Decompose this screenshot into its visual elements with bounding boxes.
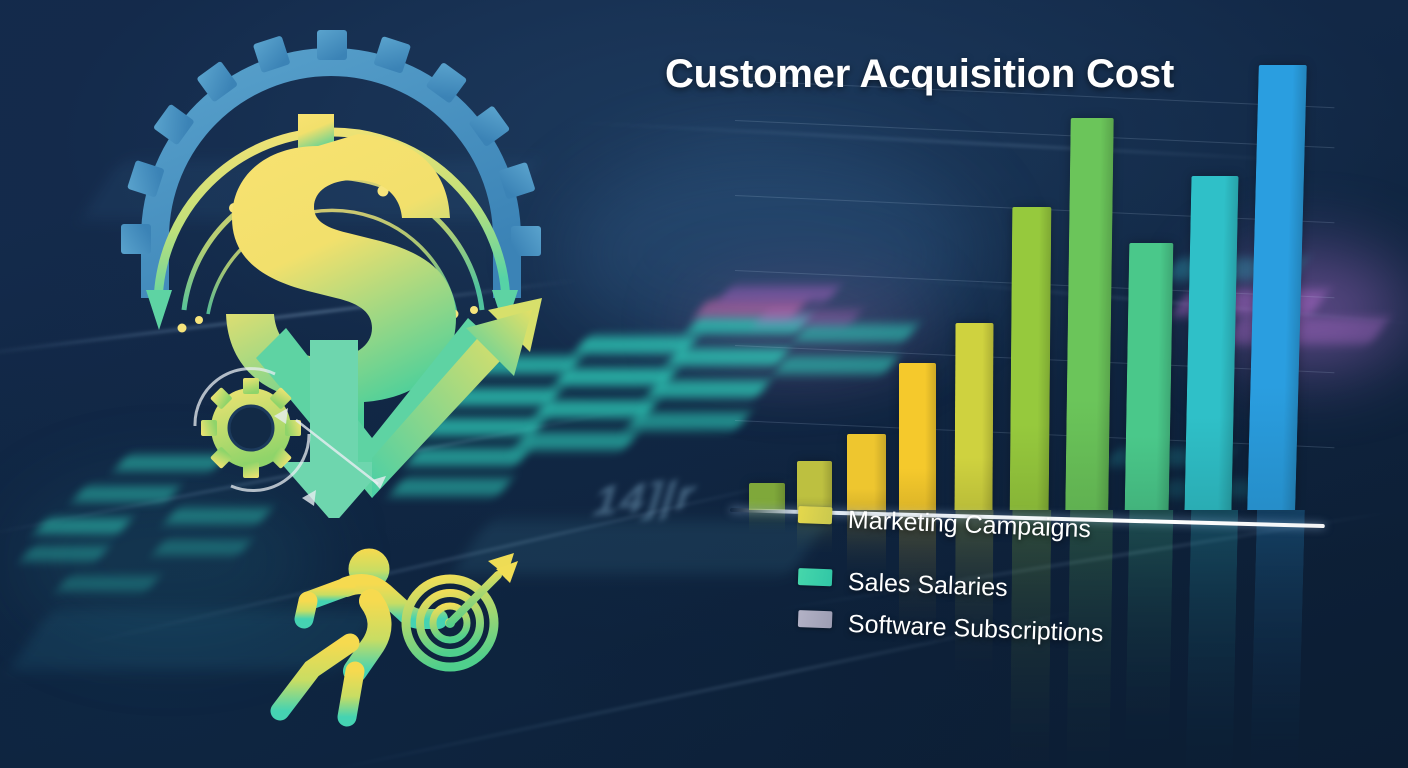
- background-bar: [21, 546, 109, 561]
- bar-8[interactable]: [1125, 243, 1174, 510]
- background-bar: [626, 412, 750, 430]
- legend-label-sales-salaries: Sales Salaries: [847, 570, 1008, 601]
- running-person-icon: [280, 549, 438, 717]
- dollar-gear-growth-icon: [96, 28, 566, 518]
- target-arrow-icon: [450, 553, 518, 623]
- bar-7[interactable]: [1065, 118, 1113, 510]
- bar-chart: [735, 60, 1345, 530]
- background-bar: [57, 576, 159, 591]
- legend-item-sales-salaries[interactable]: Sales Salaries: [798, 568, 1009, 601]
- background-bar: [35, 518, 132, 534]
- bar-shading: [981, 323, 993, 510]
- legend-item-software-subscriptions[interactable]: Software Subscriptions: [798, 610, 1104, 647]
- bar-5[interactable]: [955, 323, 994, 510]
- legend-item-marketing-campaigns[interactable]: Marketing Campaigns: [798, 506, 1092, 542]
- background-blurred-text: 14]|r: [588, 471, 703, 526]
- infographic-canvas: 14]|r: [0, 0, 1408, 768]
- chart-legend: Marketing Campaigns Sales Salaries Softw…: [798, 500, 1198, 675]
- background-bar: [153, 540, 251, 555]
- bar-3[interactable]: [847, 434, 886, 510]
- legend-label-marketing-campaigns: Marketing Campaigns: [847, 508, 1091, 542]
- bar-shading: [1095, 118, 1113, 510]
- runner-target-group: [250, 525, 550, 735]
- bar-4[interactable]: [899, 363, 936, 510]
- bar-10[interactable]: [1247, 65, 1307, 510]
- legend-swatch-marketing-campaigns: [798, 506, 833, 524]
- legend-label-software-subscriptions: Software Subscriptions: [847, 612, 1103, 647]
- legend-swatch-software-subscriptions: [798, 610, 833, 628]
- bar-shading: [1281, 65, 1307, 510]
- legend-swatch-sales-salaries: [798, 568, 833, 586]
- bar-shading: [1217, 176, 1238, 510]
- bar-1[interactable]: [749, 483, 785, 510]
- bar-shading: [1037, 207, 1051, 510]
- bar-reflection-10: [1249, 510, 1305, 768]
- bar-reflection-1: [749, 510, 785, 537]
- bar-shading: [1155, 243, 1173, 510]
- bar-9[interactable]: [1185, 176, 1239, 510]
- bar-6[interactable]: [1010, 207, 1052, 510]
- bar-shading: [874, 434, 886, 510]
- bar-shading: [774, 483, 785, 510]
- bar-shading: [925, 363, 936, 510]
- arc-arrow-left: [146, 290, 172, 330]
